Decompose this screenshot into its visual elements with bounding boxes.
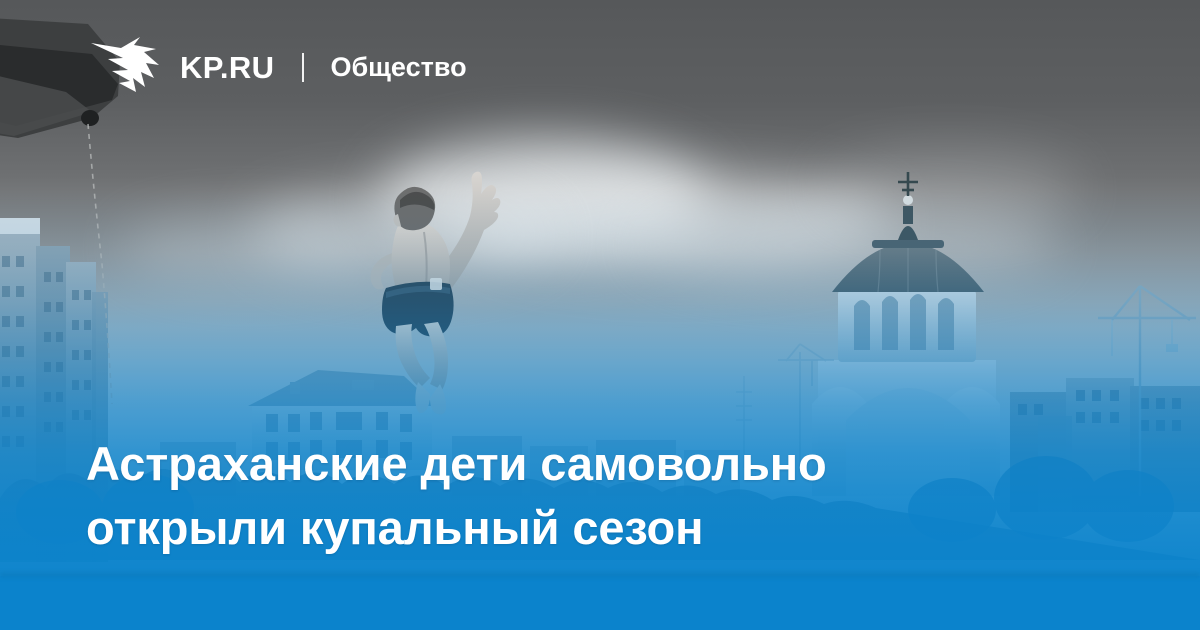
header-separator xyxy=(302,53,304,82)
kp-swallow-bird-logo-icon[interactable] xyxy=(88,34,162,100)
headline-line-1: Астраханские дети самовольно xyxy=(86,432,1046,496)
headline: Астраханские дети самовольно открыли куп… xyxy=(86,432,1046,560)
share-card: KP.RU Общество Астраханские дети самовол… xyxy=(0,0,1200,630)
brand-bottom-bar xyxy=(0,576,1200,630)
rubric-label[interactable]: Общество xyxy=(330,54,466,81)
headline-line-2: открыли купальный сезон xyxy=(86,496,1046,560)
brand-header: KP.RU Общество xyxy=(88,34,467,100)
brand-name[interactable]: KP.RU xyxy=(180,52,274,83)
